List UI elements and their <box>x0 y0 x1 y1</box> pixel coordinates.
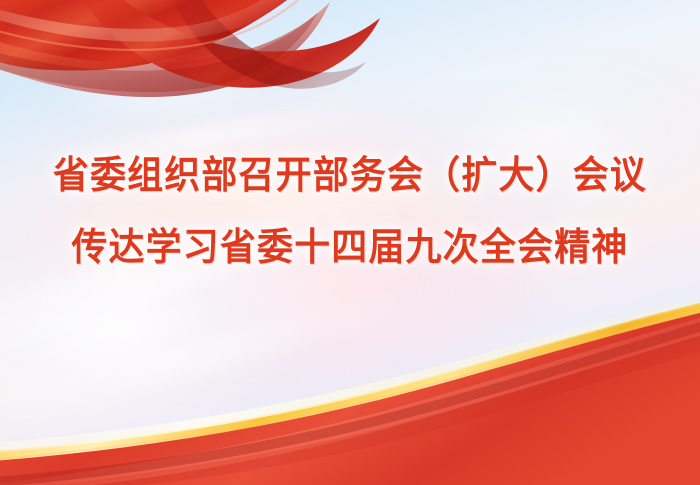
banner-title-line-1: 省委组织部召开部务会（扩大）会议 <box>21 152 679 198</box>
banner-title-block: 省委组织部召开部务会（扩大）会议 传达学习省委十四届九次全会精神 <box>0 152 700 270</box>
banner-image: 省委组织部召开部务会（扩大）会议 传达学习省委十四届九次全会精神 <box>0 0 700 485</box>
banner-title-line-2: 传达学习省委十四届九次全会精神 <box>21 224 679 270</box>
cloud-bottom-right <box>406 301 700 485</box>
cloud-top-left <box>42 10 280 136</box>
